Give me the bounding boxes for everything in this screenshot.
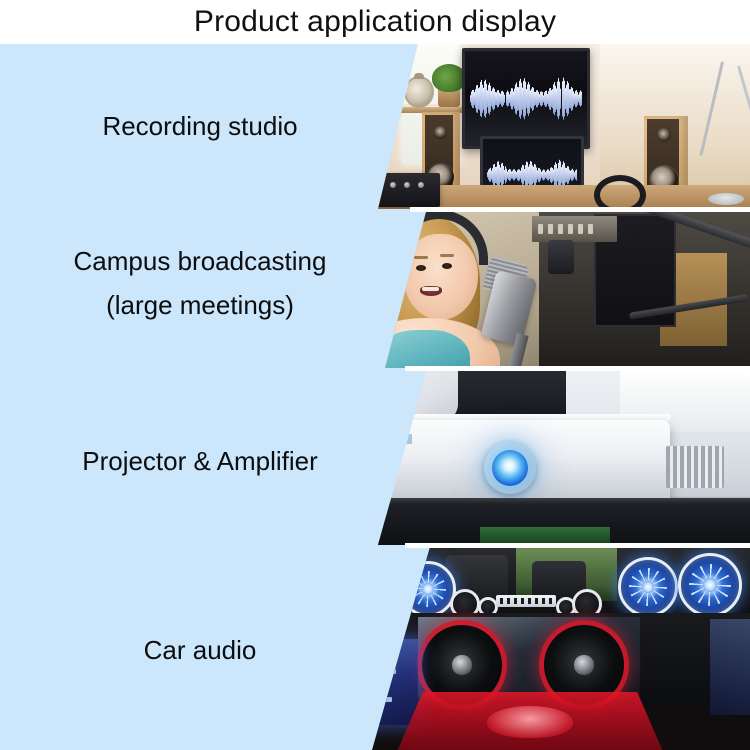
application-label-projector-amplifier: Projector & Amplifier [0, 442, 400, 480]
page-title: Product application display [0, 2, 750, 42]
label-line: Campus broadcasting [0, 242, 400, 280]
interface-knob [390, 182, 396, 188]
side-led-glow [710, 619, 750, 715]
label-line: Recording studio [0, 107, 400, 145]
waveform-graphic [470, 77, 582, 121]
panel-separator [405, 543, 750, 548]
panel-separator [410, 207, 750, 212]
amplifier-red-lit [396, 692, 664, 750]
tweeter [657, 128, 671, 142]
application-image-recording-studio [360, 44, 750, 209]
label-line: Car audio [0, 631, 400, 669]
studio-monitor-screen [462, 48, 590, 149]
header-bar: Product application display [0, 0, 750, 44]
label-line: Projector & Amplifier [0, 442, 400, 480]
recording-studio-photo [360, 44, 750, 209]
application-label-car-audio: Car audio [0, 631, 400, 669]
boom-clamp [548, 240, 574, 274]
interface-knob [404, 182, 410, 188]
panel-separator [405, 366, 750, 371]
product-application-display: Product application display Recording st… [0, 0, 750, 750]
application-label-recording-studio: Recording studio [0, 107, 400, 145]
application-label-campus-broadcasting: Campus broadcasting (large meetings) [0, 242, 400, 324]
desk-lamp-base [708, 193, 744, 205]
interface-knob [418, 182, 424, 188]
brand-badge [496, 595, 556, 607]
car-speaker-blue [618, 557, 678, 617]
label-line: (large meetings) [0, 286, 400, 324]
child-mouth [420, 286, 442, 296]
car-speaker-blue [678, 553, 742, 617]
projector-lens [492, 450, 528, 486]
monitor-display [465, 51, 587, 146]
tweeter [434, 126, 447, 139]
studio-headphones [594, 175, 646, 209]
projector-vent [666, 446, 724, 488]
potted-plant-icon [432, 64, 466, 92]
eye [416, 265, 426, 271]
mixer-panel [532, 216, 618, 242]
